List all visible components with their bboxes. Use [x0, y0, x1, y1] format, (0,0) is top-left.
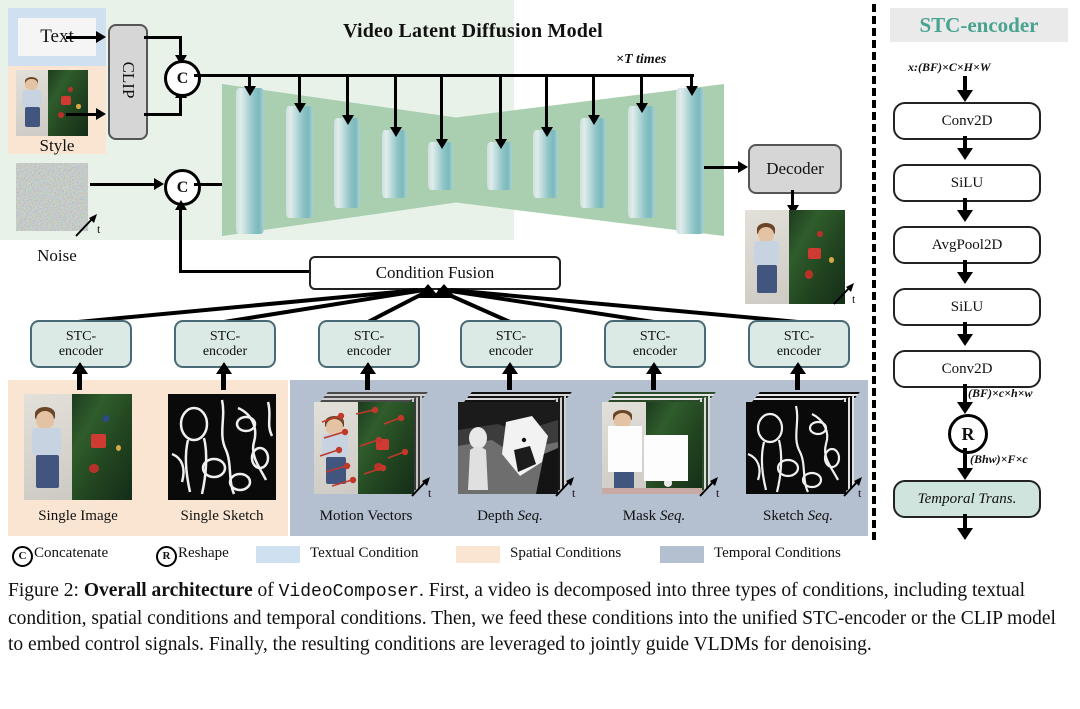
rail-drop-6	[499, 74, 502, 142]
mask-seq-name: Mask	[623, 508, 660, 524]
noise-time-label: t	[97, 222, 100, 237]
concat-symbol-2: C	[177, 179, 189, 197]
clip-label: CLIP	[118, 32, 138, 128]
unet-block-5	[428, 142, 453, 190]
unet-block-2	[286, 106, 313, 218]
noise-to-concat-arrow-icon	[154, 178, 164, 190]
mask-seq-label: Mask Seq.	[584, 508, 724, 525]
concat-symbol: C	[177, 70, 189, 88]
sketch-lines-icon	[168, 394, 276, 500]
stc-encoder-single-image[interactable]: STC-encoder	[30, 320, 132, 368]
unet-block-4	[382, 130, 407, 198]
stc-encoder-label-3: STC-encoder	[347, 329, 391, 359]
unet-block-10	[676, 88, 704, 234]
stc-encoder-sketch-seq[interactable]: STC-encoder	[748, 320, 850, 368]
unet-block-1	[236, 88, 264, 234]
unet-block-3	[334, 118, 360, 208]
legend-concat-icon: C	[12, 546, 33, 567]
stc-out-shape-label: (Bhw)×F×c	[970, 452, 1028, 467]
style-to-clip-line	[66, 113, 98, 116]
stc-link-arrow-5-icon	[957, 402, 973, 414]
stc-block-silu-2[interactable]: SiLU	[893, 288, 1041, 326]
repeat-times-label: ×T times	[616, 52, 666, 68]
stc-panel-header: STC-encoder	[890, 8, 1068, 42]
stc-encoder-label-4: STC-encoder	[489, 329, 533, 359]
vldm-title: Video Latent Diffusion Model	[216, 18, 730, 44]
thumb-up-arrow-4-icon	[502, 362, 518, 374]
single-sketch-label: Single Sketch	[152, 508, 292, 525]
mask-time-label: t	[716, 486, 719, 501]
stc-block-conv2d-1[interactable]: Conv2D	[893, 102, 1041, 140]
rail-arrow-10-icon	[686, 86, 698, 96]
fusion-to-concat-arrow-icon	[175, 200, 187, 210]
stc-block-label-6: Temporal Trans.	[918, 491, 1017, 508]
stc-link-arrow-3-icon	[957, 272, 973, 284]
legend-swatch-textual	[256, 546, 300, 563]
stc-block-label-3: AvgPool2D	[932, 237, 1003, 254]
depth-map-icon	[458, 402, 558, 494]
stc-out-arrow-icon	[957, 528, 973, 540]
sketch-seq-lines-icon	[746, 402, 846, 494]
rail-drop-3	[346, 74, 349, 118]
stc-encoder-depth-seq[interactable]: STC-encoder	[460, 320, 562, 368]
unet-block-9	[628, 106, 655, 218]
rail-arrow-7-icon	[541, 127, 553, 137]
fusion-to-concat-hline	[179, 270, 311, 273]
condition-fusion-label: Condition Fusion	[376, 263, 495, 283]
depth-seq-name: Depth	[477, 508, 517, 524]
motion-vectors-label: Motion Vectors	[296, 508, 436, 525]
stc-encoder-motion-vectors[interactable]: STC-encoder	[318, 320, 420, 368]
legend-textual-label: Textual Condition	[310, 545, 419, 562]
thumb-up-arrow-5-icon	[646, 362, 662, 374]
rail-drop-8	[592, 74, 595, 118]
stc-mid-shape-label: (BF)×c×h×w	[968, 386, 1033, 401]
stc-link-arrow-6-icon	[957, 468, 973, 480]
stc-in-arrow-icon	[957, 90, 973, 102]
stc-block-avgpool2d[interactable]: AvgPool2D	[893, 226, 1041, 264]
style-label: Style	[8, 136, 106, 156]
reshape-circle: R	[948, 414, 988, 454]
stc-input-shape-label: x:(BF)×C×H×W	[908, 60, 991, 75]
rail-arrow-9-icon	[636, 103, 648, 113]
stc-block-label-4: SiLU	[951, 299, 984, 316]
rail-drop-2	[298, 74, 301, 106]
legend-temporal-label: Temporal Conditions	[714, 545, 841, 562]
rail-arrow-5-icon	[436, 139, 448, 149]
legend-swatch-temporal	[660, 546, 704, 563]
unet-block-8	[580, 118, 606, 208]
concat-circle-text-style: C	[164, 60, 201, 97]
stc-block-label-2: SiLU	[951, 175, 984, 192]
single-sketch-thumbnail	[168, 394, 276, 500]
clip-encoder-box[interactable]: CLIP	[108, 24, 148, 140]
stc-block-temporal-trans[interactable]: Temporal Trans.	[893, 480, 1041, 518]
clip-out-bot-line	[144, 113, 182, 116]
thumb-up-arrow-3-icon	[360, 362, 376, 374]
depth-seq-label: Depth Seq.	[440, 508, 580, 525]
single-image-thumbnail	[24, 394, 132, 500]
rail-arrow-4-icon	[390, 127, 402, 137]
rail-drop-9	[640, 74, 643, 106]
caption-figure-number: Figure 2:	[8, 580, 79, 601]
legend-spatial-label: Spatial Conditions	[510, 545, 621, 562]
figure-caption: Figure 2: Overall architecture of VideoC…	[8, 578, 1072, 659]
panel-divider	[872, 4, 876, 540]
sketch-seq-label: Sketch Seq.	[728, 508, 868, 525]
decoder-label: Decoder	[766, 159, 824, 179]
figure-2-overall-architecture: Text Style t Noise CLIP	[0, 0, 1080, 709]
stc-link-arrow-2-icon	[957, 210, 973, 222]
stc-block-silu-1[interactable]: SiLU	[893, 164, 1041, 202]
unet-block-6	[487, 142, 512, 190]
decoder-box[interactable]: Decoder	[748, 144, 842, 194]
stc-encoder-mask-seq[interactable]: STC-encoder	[604, 320, 706, 368]
text-to-clip-line	[66, 36, 98, 39]
rail-arrow-2-icon	[294, 103, 306, 113]
legend-reshape-label: Reshape	[178, 545, 229, 562]
legend-reshape-icon: R	[156, 546, 177, 567]
stc-block-conv2d-2[interactable]: Conv2D	[893, 350, 1041, 388]
unet-out-line	[704, 166, 740, 169]
clip-out-top-line	[144, 36, 182, 39]
caption-bold-phrase: Overall architecture	[84, 580, 253, 601]
sketchseq-time-label: t	[858, 486, 861, 501]
legend-swatch-spatial	[456, 546, 500, 563]
style-to-clip-arrow-icon	[96, 108, 106, 120]
motion-arrows-icon	[314, 402, 414, 494]
stc-panel-title: STC-encoder	[890, 8, 1068, 42]
rail-arrow-1-icon	[244, 86, 256, 96]
rail-arrow-3-icon	[342, 115, 354, 125]
noise-label: Noise	[8, 246, 106, 266]
depth-time-label: t	[572, 486, 575, 501]
thumb-up-arrow-6-icon	[790, 362, 806, 374]
concat-to-unet-rail	[194, 74, 694, 77]
caption-part-1: of	[253, 580, 279, 601]
caption-mono-name: VideoComposer	[279, 582, 419, 602]
noise-to-concat-line	[90, 183, 156, 186]
unet-block-7	[533, 130, 558, 198]
motion-time-label: t	[428, 486, 431, 501]
rail-drop-7	[545, 74, 548, 130]
stc-block-label-1: Conv2D	[942, 113, 993, 130]
rail-arrow-6-icon	[495, 139, 507, 149]
style-image-thumbnail	[16, 70, 88, 136]
thumb-up-arrow-2-icon	[216, 362, 232, 374]
stc-encoder-label-5: STC-encoder	[633, 329, 677, 359]
stc-encoder-label-6: STC-encoder	[777, 329, 821, 359]
rail-drop-4	[394, 74, 397, 130]
single-image-label: Single Image	[8, 508, 148, 525]
rail-arrow-8-icon	[588, 115, 600, 125]
stc-encoder-label-2: STC-encoder	[203, 329, 247, 359]
depth-seq-suffix: Seq.	[518, 508, 543, 524]
thumb-up-arrow-1-icon	[72, 362, 88, 374]
legend-concatenate-label: Concatenate	[34, 545, 108, 562]
sketch-seq-suffix: Seq.	[808, 508, 833, 524]
stc-link-arrow-4-icon	[957, 334, 973, 346]
stc-link-arrow-1-icon	[957, 148, 973, 160]
fusion-to-concat-vline	[179, 210, 182, 272]
text-to-clip-arrow-icon	[96, 31, 106, 43]
stc-block-label-5: Conv2D	[942, 361, 993, 378]
reshape-symbol: R	[962, 424, 975, 445]
mask-seq-suffix: Seq.	[660, 508, 685, 524]
unet-out-arrow-icon	[738, 161, 748, 173]
stc-encoder-label-1: STC-encoder	[59, 329, 103, 359]
sketch-seq-name: Sketch	[763, 508, 808, 524]
rail-drop-5	[440, 74, 443, 142]
legend: C Concatenate R Reshape Textual Conditio…	[8, 543, 872, 567]
fusion-fanin-lines	[0, 282, 880, 324]
stc-encoder-single-sketch[interactable]: STC-encoder	[174, 320, 276, 368]
